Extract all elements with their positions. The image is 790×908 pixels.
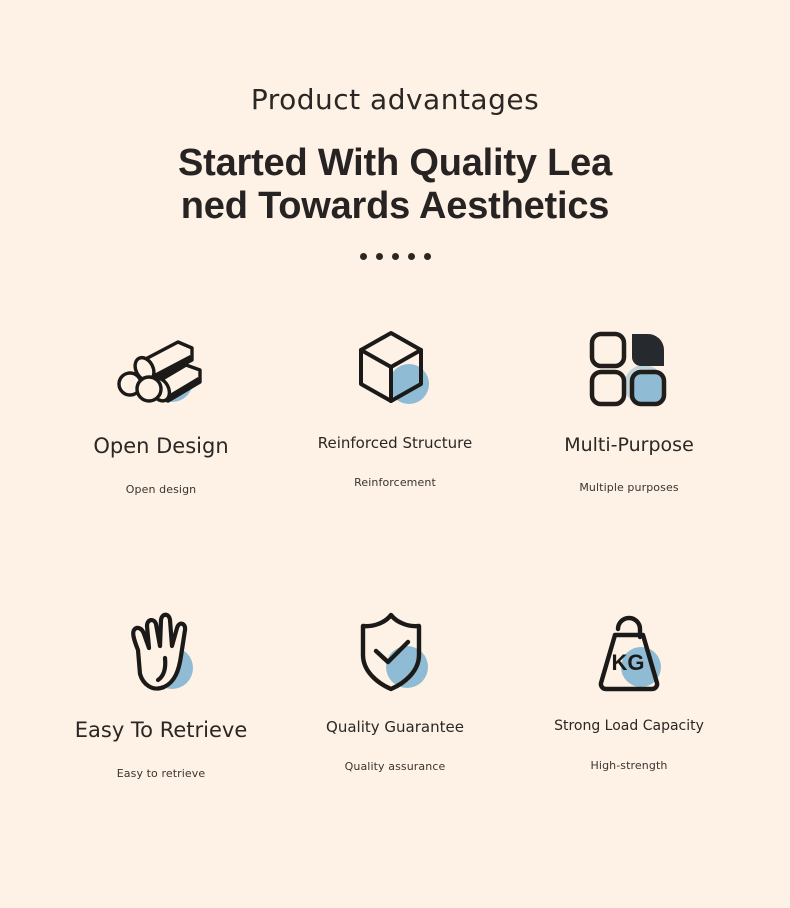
stacked-pipes-icon (116, 322, 206, 418)
feature-item-strong-load-capacity: KG Strong Load Capacity High-strength (512, 602, 746, 882)
feature-title: Reinforced Structure (318, 434, 473, 452)
divider-dot (424, 253, 431, 260)
divider-dot (360, 253, 367, 260)
feature-title: Multi-Purpose (564, 434, 694, 457)
feature-subtitle: Open design (126, 483, 196, 496)
page-title: Started With Quality Lea ned Towards Aes… (0, 142, 790, 227)
feature-item-quality-guarantee: Quality Guarantee Quality assurance (278, 602, 512, 882)
feature-item-multi-purpose: Multi-Purpose Multiple purposes (512, 322, 746, 602)
product-advantages-page: Product advantages Started With Quality … (0, 0, 790, 908)
feature-title: Easy To Retrieve (75, 718, 248, 743)
dot-divider (0, 253, 790, 260)
page-header: Product advantages Started With Quality … (0, 0, 790, 260)
divider-dot (408, 253, 415, 260)
feature-title: Open Design (93, 434, 228, 459)
page-title-line-2: ned Towards Aesthetics (150, 185, 640, 228)
page-title-line-1: Started With Quality Lea (150, 142, 640, 185)
feature-item-open-design: Open Design Open design (44, 322, 278, 602)
feature-subtitle: Multiple purposes (579, 481, 678, 494)
shield-check-icon (353, 602, 437, 702)
feature-item-easy-to-retrieve: Easy To Retrieve Easy to retrieve (44, 602, 278, 882)
cube-icon (353, 322, 437, 418)
feature-subtitle: High-strength (591, 759, 668, 772)
feature-grid: Open Design Open design Reinforced Struc… (0, 322, 790, 882)
feature-title: Strong Load Capacity (554, 718, 704, 735)
weight-kg-icon: KG (587, 602, 671, 702)
feature-subtitle: Easy to retrieve (117, 767, 206, 780)
feature-subtitle: Quality assurance (345, 760, 446, 773)
weight-unit-label: KG (612, 650, 645, 675)
feature-item-reinforced-structure: Reinforced Structure Reinforcement (278, 322, 512, 602)
feature-title: Quality Guarantee (326, 718, 464, 736)
feature-subtitle: Reinforcement (354, 476, 436, 489)
divider-dot (392, 253, 399, 260)
divider-dot (376, 253, 383, 260)
four-squares-icon (586, 322, 672, 418)
open-hand-icon (118, 602, 204, 702)
eyebrow-text: Product advantages (0, 86, 790, 114)
